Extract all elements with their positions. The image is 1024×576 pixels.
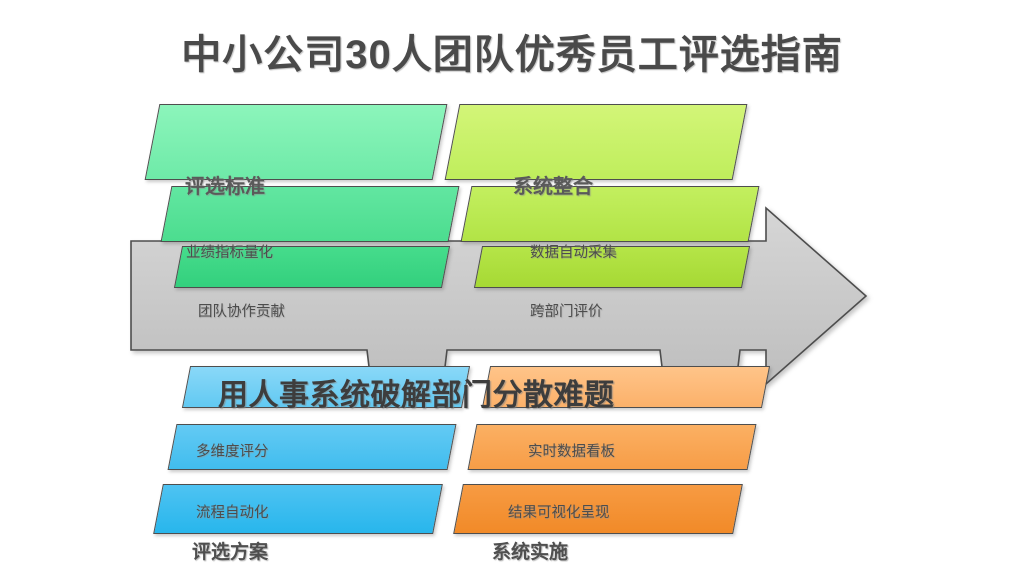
- caption-criteria-2: 业绩指标量化: [186, 241, 273, 262]
- caption-scheme-2: 多维度评分: [196, 440, 269, 461]
- caption-scheme-3: 流程自动化: [196, 501, 269, 522]
- bar-criteria-1[interactable]: [145, 104, 448, 180]
- bar-integration-1[interactable]: [445, 104, 748, 180]
- slide-canvas: 中小公司30人团队优秀员工评选指南 评选标准 业绩指标量化 团队协作贡献 系统整…: [0, 0, 1024, 576]
- caption-criteria-3: 团队协作贡献: [198, 300, 285, 321]
- page-title: 中小公司30人团队优秀员工评选指南: [0, 32, 1024, 78]
- caption-integration-3: 跨部门评价: [530, 300, 603, 321]
- caption-implementation-3: 结果可视化呈现: [508, 501, 610, 522]
- caption-implementation-2: 实时数据看板: [528, 440, 615, 461]
- group-label-implementation: 系统实施: [492, 537, 568, 564]
- banner-headline: 用人事系统破解部门分散难题: [218, 370, 615, 414]
- group-heading-criteria: 评选标准: [185, 170, 265, 199]
- group-heading-integration: 系统整合: [513, 170, 593, 199]
- caption-integration-2: 数据自动采集: [530, 241, 617, 262]
- group-label-scheme: 评选方案: [192, 537, 268, 564]
- bar-integration-2[interactable]: [461, 186, 760, 242]
